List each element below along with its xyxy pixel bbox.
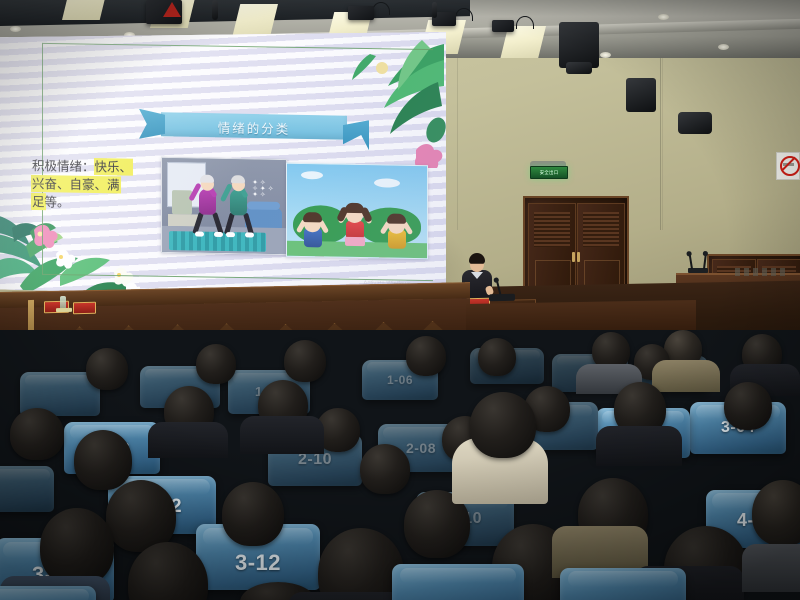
audience-shoulders — [596, 426, 682, 466]
audience-head — [74, 430, 132, 490]
no-smoking-sign — [776, 152, 800, 180]
wall-signage-strip — [735, 268, 787, 276]
ceiling-cable — [372, 2, 390, 15]
ceiling-cable — [455, 8, 473, 21]
exit-sign-label: 安全出口 — [530, 166, 568, 179]
audience-head — [86, 348, 128, 390]
audience-head — [478, 338, 516, 376]
audience-head — [284, 340, 326, 382]
audience-shoulders — [742, 544, 800, 592]
audience-seat[interactable] — [392, 564, 524, 600]
slide-banner: 情绪的分类 — [139, 110, 369, 148]
audience-area: 2-06 1-06 1-08 3-04 — [0, 330, 800, 600]
audience-seat[interactable] — [0, 586, 96, 600]
warning-triangle-icon — [163, 2, 181, 17]
desk-nameplate — [73, 302, 96, 314]
audience-head — [360, 444, 410, 494]
audience-shoulders — [652, 360, 720, 392]
slide-text-highlight-2: 兴奋、自豪、满 — [32, 176, 120, 193]
audience-head — [196, 344, 236, 384]
ceiling-downlight — [658, 14, 669, 20]
audience-head — [10, 408, 64, 460]
audience-head — [724, 382, 772, 430]
audience-seat[interactable] — [0, 466, 54, 512]
audience-head — [470, 392, 536, 458]
slide-text-plain-1: 积极情绪： — [32, 158, 95, 174]
projection-screen: 情绪的分类 积极情绪：快乐、 兴奋、自豪、满 足等。 — [0, 32, 446, 300]
audience-head — [222, 482, 284, 546]
desk-paper — [56, 308, 72, 312]
ceiling-rail — [432, 2, 437, 18]
glasses-icon — [471, 263, 483, 267]
audience-head — [40, 508, 114, 586]
laptop-shape — [489, 294, 515, 302]
ceiling-equipment-box — [348, 6, 374, 20]
slide-text-plain-2: 等。 — [45, 194, 70, 209]
stage-light-fixture — [566, 62, 592, 74]
audience-shoulders — [288, 592, 408, 600]
projector-mount — [678, 112, 712, 134]
ceiling-equipment-box — [492, 20, 514, 32]
seat-number: 3-12 — [196, 550, 320, 576]
audience-head — [752, 480, 800, 546]
audience-head — [406, 336, 446, 376]
lecture-hall-screenshot: 情绪的分类 积极情绪：快乐、 兴奋、自豪、满 足等。 — [0, 0, 800, 600]
ceiling-downlight — [718, 44, 729, 50]
ceiling-rail — [212, 0, 218, 20]
slide-banner-title: 情绪的分类 — [161, 113, 347, 141]
ceiling-cable — [516, 16, 534, 29]
slide-text-highlight-3: 足 — [32, 194, 45, 209]
speaker-cabinet — [626, 78, 656, 112]
slide-image-happy-children — [286, 163, 428, 259]
slide-text-highlight-1: 快乐、 — [95, 159, 133, 175]
audience-seat[interactable] — [560, 568, 686, 600]
ceiling-downlight — [10, 26, 21, 32]
slide-body-text: 积极情绪：快乐、 兴奋、自豪、满 足等。 — [32, 157, 154, 214]
audience-shoulders — [240, 416, 324, 454]
ceiling-downlight — [600, 52, 611, 58]
slide-image-elderly-yoga: ✦ ✧✧ ✦ ✧✦ ✧ — [161, 157, 287, 255]
audience-shoulders — [148, 422, 228, 458]
